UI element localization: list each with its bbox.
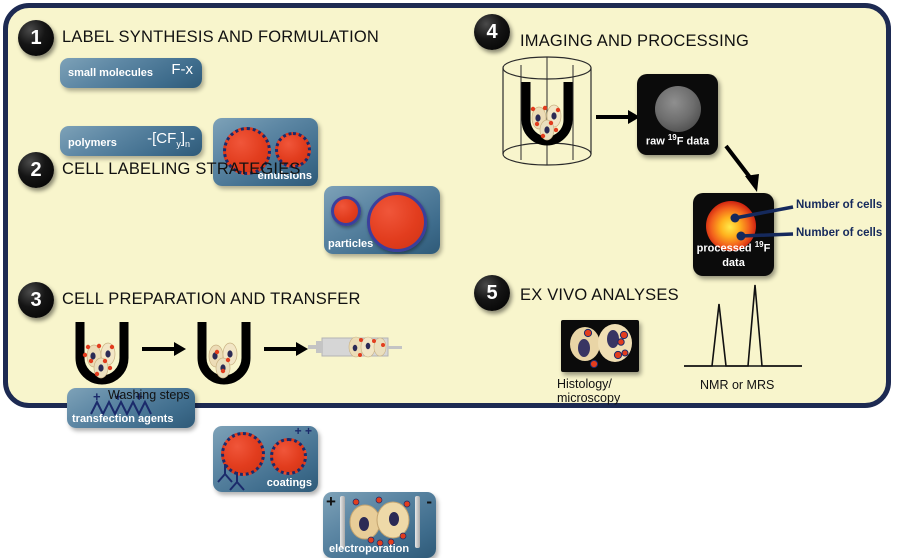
polymers-label: polymers (68, 137, 117, 149)
histology-tile[interactable] (561, 320, 639, 372)
u-tube-unwashed-icon (72, 316, 132, 384)
raw-signal-blob-icon (655, 86, 701, 132)
nmr-caption: NMR or MRS (700, 378, 774, 392)
polymers-formula: -[CFy]n- (147, 130, 195, 149)
anode-plate-icon (340, 496, 345, 548)
raw-data-caption-sup: 19 (668, 133, 677, 142)
particles-label: particles (328, 238, 373, 250)
electroporation-cells-icon (347, 498, 413, 546)
raw-data-caption: raw 19F data (637, 131, 718, 149)
arrow-washing-icon (142, 340, 186, 358)
histology-caption-line2: microscopy (557, 391, 620, 405)
electroporation-label: electroporation (329, 543, 409, 555)
processed-data-caption-line2: data (693, 257, 774, 270)
cathode-plate-icon (415, 496, 420, 548)
histology-cells-icon (561, 320, 639, 372)
figure-canvas: 1 LABEL SYNTHESIS AND FORMULATION small … (0, 0, 900, 417)
step-2-number: 2 (30, 159, 41, 182)
syringe-icon (308, 330, 404, 366)
step-4-title: IMAGING AND PROCESSING (520, 32, 749, 51)
annotation-number-of-cells-1: Number of cells (796, 199, 882, 211)
mri-coil-icon (497, 56, 597, 168)
coatings-panel[interactable]: + + coatings (213, 426, 318, 492)
raw-data-caption-head: raw (646, 136, 668, 148)
small-molecules-formula: F-x (171, 61, 193, 78)
step-4-badge: 4 (474, 14, 510, 50)
cathode-label: - (426, 492, 432, 512)
polymers-formula-prefix: -[CF (147, 130, 176, 147)
arrow-to-processed-data-icon (726, 146, 776, 194)
coated-particle-small-icon (270, 438, 307, 475)
step-3-badge: 3 (18, 282, 54, 318)
arrow-to-raw-data-icon (596, 108, 640, 126)
histology-caption-line1: Histology/ (557, 377, 620, 391)
anode-label: + (326, 492, 336, 512)
step-1-badge: 1 (18, 20, 54, 56)
histology-caption: Histology/ microscopy (557, 377, 620, 405)
washing-steps-label: Washing steps (108, 388, 190, 402)
coatings-label: coatings (267, 477, 312, 489)
particle-large-icon (367, 192, 427, 252)
coatings-charges-label: + + (295, 424, 312, 438)
small-molecules-label: small molecules (68, 67, 153, 79)
u-tube-washed-icon (194, 316, 254, 384)
step-3-title: CELL PREPARATION AND TRANSFER (62, 290, 361, 309)
annotation-number-of-cells-2: Number of cells (796, 227, 882, 239)
antibody-icon (215, 464, 249, 492)
particle-small-icon (331, 196, 361, 226)
polymers-panel[interactable]: polymers -[CFy]n- (60, 126, 202, 156)
step-5-title: EX VIVO ANALYSES (520, 286, 679, 305)
particles-panel[interactable]: particles (324, 186, 440, 254)
step-5-number: 5 (486, 282, 497, 305)
small-molecules-panel[interactable]: small molecules F-x (60, 58, 202, 88)
nmr-spectrum-chart (682, 278, 807, 374)
step-2-badge: 2 (18, 152, 54, 188)
raw-data-tile[interactable]: raw 19F data (637, 74, 718, 155)
arrow-transfer-icon (264, 340, 308, 358)
transfection-agents-label: transfection agents (72, 413, 173, 425)
step-5-badge: 5 (474, 275, 510, 311)
step-4-number: 4 (486, 21, 497, 44)
step-1-number: 1 (30, 27, 41, 50)
step-2-title: CELL LABELING STRATEGIES (62, 160, 301, 179)
raw-data-caption-tail: F data (677, 136, 709, 148)
step-1-title: LABEL SYNTHESIS AND FORMULATION (62, 28, 379, 47)
electroporation-panel[interactable]: + - electroporation (323, 492, 436, 558)
annotation-leader-lines (729, 203, 797, 249)
step-3-number: 3 (30, 289, 41, 312)
polymers-formula-suffix: - (190, 130, 195, 147)
